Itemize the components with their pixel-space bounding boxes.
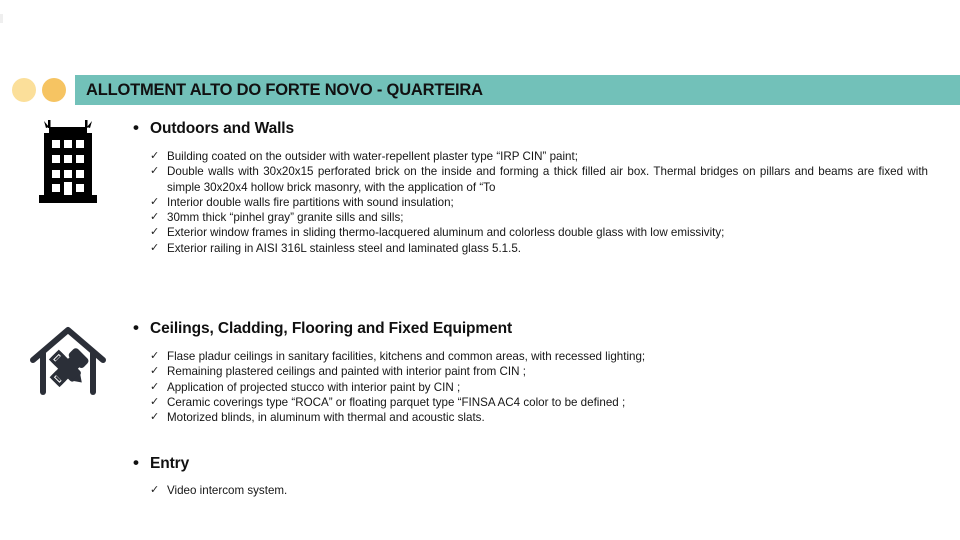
list-item: ✓ 30mm thick “pinhel gray” granite sills…	[150, 210, 933, 225]
list-item-text: Application of projected stucco with int…	[167, 380, 933, 395]
list-item-text: Flase pladur ceilings in sanitary facili…	[167, 349, 933, 364]
decorative-circle-amber	[42, 78, 66, 102]
list-item-text: Interior double walls fire partitions wi…	[167, 195, 933, 210]
section-entry: • Entry ✓ Video intercom system.	[133, 454, 933, 498]
check-list: ✓ Flase pladur ceilings in sanitary faci…	[150, 349, 933, 425]
list-item-text: Exterior railing in AISI 316L stainless …	[167, 241, 933, 256]
check-icon: ✓	[150, 395, 167, 410]
section-heading: • Entry	[133, 454, 933, 473]
list-item: ✓ Application of projected stucco with i…	[150, 380, 933, 395]
building-icon	[38, 118, 98, 206]
check-icon: ✓	[150, 364, 167, 379]
bullet-glyph: •	[133, 319, 150, 336]
list-item: ✓ Interior double walls fire partitions …	[150, 195, 933, 210]
check-icon: ✓	[150, 410, 167, 425]
check-icon: ✓	[150, 241, 167, 256]
check-icon: ✓	[150, 164, 167, 179]
check-icon: ✓	[150, 380, 167, 395]
check-icon: ✓	[150, 210, 167, 225]
check-icon: ✓	[150, 349, 167, 364]
decorative-circle-light	[12, 78, 36, 102]
list-item: ✓ Ceramic coverings type “ROCA” or float…	[150, 395, 933, 410]
section-ceilings-cladding-flooring: • Ceilings, Cladding, Flooring and Fixed…	[133, 319, 933, 425]
section-title: Entry	[150, 455, 189, 473]
check-icon: ✓	[150, 195, 167, 210]
list-item-text: Motorized blinds, in aluminum with therm…	[167, 410, 933, 425]
title-bar: ALLOTMENT ALTO DO FORTE NOVO - QUARTEIRA	[75, 75, 960, 105]
check-icon: ✓	[150, 483, 167, 498]
list-item: ✓ Exterior window frames in sliding ther…	[150, 225, 933, 240]
check-icon: ✓	[150, 149, 167, 164]
edge-artifact	[0, 14, 3, 23]
page-title: ALLOTMENT ALTO DO FORTE NOVO - QUARTEIRA	[75, 81, 483, 100]
slide-canvas: ALLOTMENT ALTO DO FORTE NOVO - QUARTEIRA	[0, 0, 960, 540]
list-item-text: Building coated on the outsider with wat…	[167, 149, 933, 164]
section-outdoors-and-walls: • Outdoors and Walls ✓ Building coated o…	[133, 119, 933, 256]
section-title: Ceilings, Cladding, Flooring and Fixed E…	[150, 320, 512, 338]
list-item-text: Double walls with 30x20x15 perforated br…	[167, 164, 933, 195]
section-title: Outdoors and Walls	[150, 120, 294, 138]
house-tools-icon	[28, 322, 108, 400]
bullet-glyph: •	[133, 119, 150, 136]
list-item: ✓ Double walls with 30x20x15 perforated …	[150, 164, 933, 195]
list-item: ✓ Remaining plastered ceilings and paint…	[150, 364, 933, 379]
section-heading: • Ceilings, Cladding, Flooring and Fixed…	[133, 319, 933, 338]
list-item-text: 30mm thick “pinhel gray” granite sills a…	[167, 210, 933, 225]
check-icon: ✓	[150, 225, 167, 240]
section-heading: • Outdoors and Walls	[133, 119, 933, 138]
list-item-text: Ceramic coverings type “ROCA” or floatin…	[167, 395, 933, 410]
check-list: ✓ Building coated on the outsider with w…	[150, 149, 933, 256]
list-item: ✓ Flase pladur ceilings in sanitary faci…	[150, 349, 933, 364]
list-item: ✓ Motorized blinds, in aluminum with the…	[150, 410, 933, 425]
list-item: ✓ Video intercom system.	[150, 483, 933, 498]
check-list: ✓ Video intercom system.	[150, 483, 933, 498]
list-item-text: Exterior window frames in sliding thermo…	[167, 225, 933, 240]
list-item-text: Remaining plastered ceilings and painted…	[167, 364, 933, 379]
bullet-glyph: •	[133, 454, 150, 471]
list-item: ✓ Exterior railing in AISI 316L stainles…	[150, 241, 933, 256]
list-item: ✓ Building coated on the outsider with w…	[150, 149, 933, 164]
list-item-text: Video intercom system.	[167, 483, 933, 498]
